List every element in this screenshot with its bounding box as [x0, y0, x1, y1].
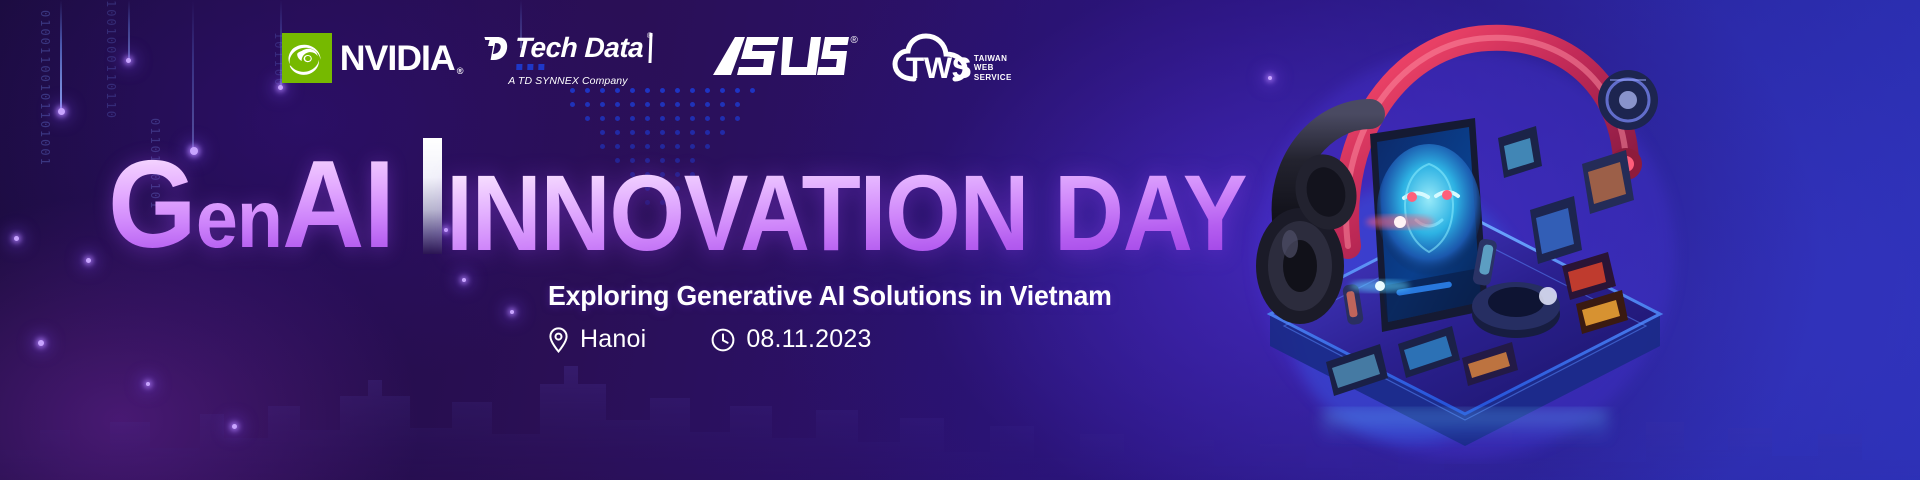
- nvidia-registered-mark: ®: [457, 66, 463, 76]
- genai-letter-g: G: [108, 136, 196, 274]
- tws-tagline-line3: SERVICE: [974, 73, 1012, 83]
- light-beam: [192, 0, 194, 150]
- glow-dot: [146, 382, 150, 386]
- tws-cloud-icon: TWS: [892, 33, 970, 85]
- event-date: 08.11.2023: [711, 325, 871, 354]
- asus-wordmark: [711, 33, 849, 79]
- genai-brand-title: GenAI: [108, 148, 394, 262]
- glow-dot: [126, 58, 131, 63]
- genai-innovation-day-banner: 01001100101101001 1001000110110 01101001…: [0, 0, 1920, 480]
- genai-letters-ai: AI: [282, 136, 394, 274]
- tws-tagline-line2: WEB: [974, 63, 1012, 73]
- nvidia-wordmark: NVIDIA®: [340, 41, 463, 76]
- tws-tagline: TAIWAN WEB SERVICE: [974, 54, 1012, 83]
- clock-icon: [711, 328, 735, 352]
- tech-data-tagline: A TD SYNNEX Company: [508, 75, 627, 87]
- glow-dot: [86, 258, 91, 263]
- ai-tech-illustration: [1230, 14, 1700, 464]
- glow-dot: [510, 310, 514, 314]
- title-divider-bar: [423, 138, 442, 254]
- tech-data-lockup: Tech Data ®: [483, 33, 653, 63]
- tws-tagline-line1: TAIWAN: [974, 54, 1012, 64]
- tech-data-square-accents: [516, 64, 544, 70]
- glow-dot: [38, 340, 44, 346]
- tech-data-td-monogram-icon: [483, 33, 510, 63]
- logo-nvidia: NVIDIA®: [282, 33, 461, 83]
- event-date-label: 08.11.2023: [746, 325, 871, 354]
- subtitle: Exploring Generative AI Solutions in Vie…: [548, 280, 1112, 312]
- tech-data-registered-mark: ®: [647, 31, 653, 40]
- light-beam: [128, 0, 130, 62]
- nvidia-eye-icon: [282, 33, 332, 83]
- tws-wordmark: TWS: [906, 54, 971, 84]
- asus-registered-mark: ®: [851, 35, 858, 46]
- glow-dot: [14, 236, 19, 241]
- event-meta-row: Hanoi 08.11.2023: [548, 325, 872, 354]
- genai-letters-en: en: [196, 174, 282, 265]
- binary-code-column-2: 1001000110110: [104, 0, 117, 120]
- binary-code-column-1: 01001100101101001: [38, 10, 51, 167]
- glow-dot: [58, 108, 65, 115]
- logo-tws: TWS TAIWAN WEB SERVICE: [892, 33, 1012, 85]
- event-location-label: Hanoi: [580, 325, 646, 354]
- title-row: GenAI INNOVATION DAY: [108, 138, 1335, 262]
- logo-tech-data: Tech Data ® A TD SYNNEX Company: [483, 33, 652, 87]
- light-beam: [60, 0, 62, 112]
- glow-dot: [232, 424, 237, 429]
- logo-asus: ®: [711, 33, 858, 79]
- headline-block: GenAI INNOVATION DAY: [108, 138, 1335, 262]
- page-title: INNOVATION DAY: [446, 163, 1246, 262]
- map-pin-icon: [548, 327, 569, 353]
- event-location: Hanoi: [548, 325, 646, 354]
- partner-logo-row: NVIDIA® Tech Data ® A TD SYNNEX Company: [282, 33, 1012, 95]
- glow-dot: [462, 278, 466, 282]
- tech-data-wordmark: Tech Data: [515, 34, 644, 62]
